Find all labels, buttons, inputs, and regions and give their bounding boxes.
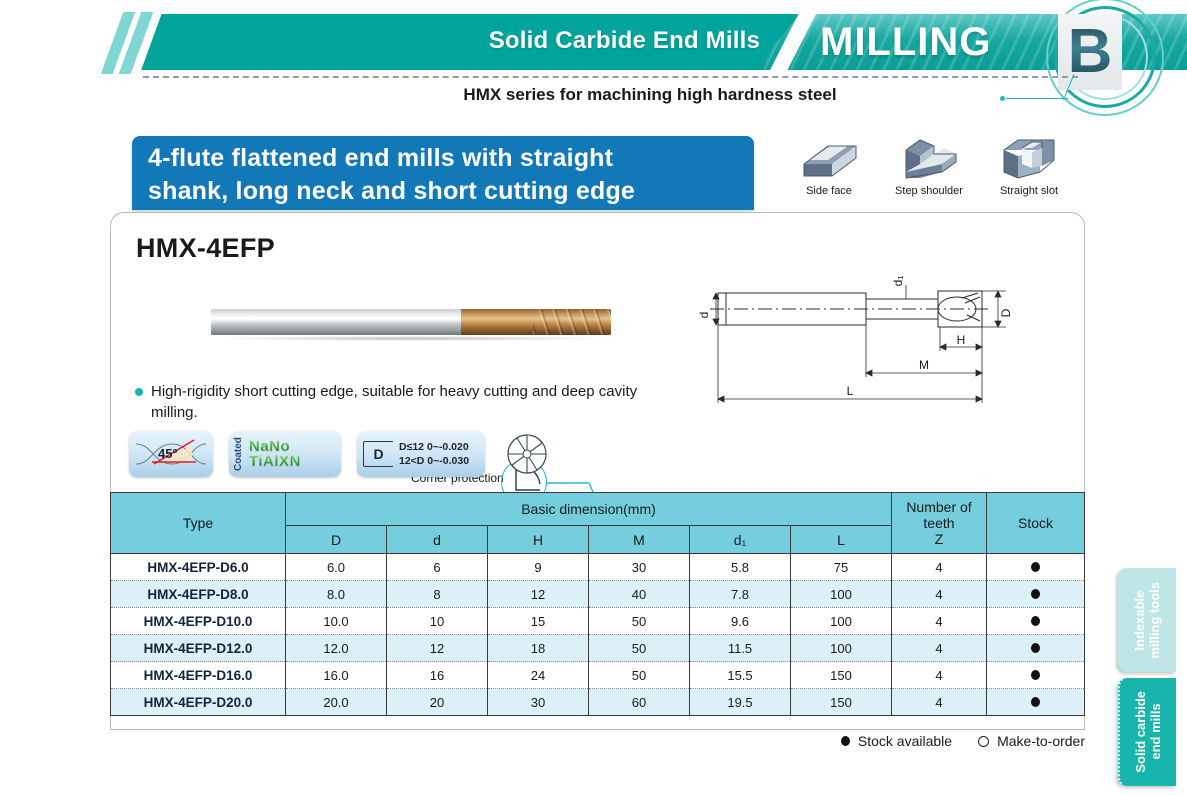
dim-label-M: M bbox=[919, 358, 929, 372]
cell-type: HMX-4EFP-D6.0 bbox=[111, 554, 286, 581]
dimension-drawing: d D d₁ H M L bbox=[666, 259, 1066, 419]
tolerance-symbol: D bbox=[363, 441, 393, 467]
cell-H: 18 bbox=[488, 635, 589, 662]
side-tab-solid-carbide-end-mills[interactable]: Solid carbide end mills bbox=[1118, 678, 1176, 786]
cell-d1: 7.8 bbox=[690, 581, 791, 608]
product-name: HMX-4EFP bbox=[136, 233, 275, 264]
helix-angle-badge: 45° bbox=[129, 431, 213, 477]
table-row: HMX-4EFP-D6.0 6.0 6 9 30 5.8 75 4 bbox=[111, 554, 1085, 581]
table-body: HMX-4EFP-D6.0 6.0 6 9 30 5.8 75 4 HMX-4E… bbox=[111, 554, 1085, 716]
tolerance-badge: D D≤12 0~-0.020 12<D 0~-0.030 bbox=[357, 431, 485, 477]
cell-d1: 11.5 bbox=[690, 635, 791, 662]
cell-H: 24 bbox=[488, 662, 589, 689]
catalog-page: Solid Carbide End Mills MILLING B HMX se… bbox=[0, 0, 1187, 795]
cell-stock bbox=[987, 554, 1085, 581]
col-header-H: H bbox=[488, 526, 589, 554]
header-subtitle: HMX series for machining high hardness s… bbox=[300, 85, 1000, 105]
stock-available-icon bbox=[1031, 562, 1040, 572]
subtitle-leader-dot bbox=[1000, 96, 1005, 101]
stock-available-icon bbox=[1031, 697, 1040, 707]
flute-count-badge bbox=[501, 431, 553, 477]
table-row: HMX-4EFP-D20.0 20.0 20 30 60 19.5 150 4 bbox=[111, 689, 1085, 716]
cell-Z: 4 bbox=[892, 635, 987, 662]
cell-stock bbox=[987, 689, 1085, 716]
cell-type: HMX-4EFP-D16.0 bbox=[111, 662, 286, 689]
stock-legend: Stock available Make-to-order bbox=[720, 733, 1085, 749]
cell-M: 30 bbox=[589, 554, 690, 581]
cell-D: 10.0 bbox=[286, 608, 387, 635]
side-tab-label: Solid carbide end mills bbox=[1133, 691, 1163, 773]
header-category: MILLING bbox=[820, 20, 991, 65]
feature-bullet: High-rigidity short cutting edge, suitab… bbox=[133, 381, 673, 423]
legend-label: Stock available bbox=[858, 733, 952, 749]
stock-available-icon bbox=[1031, 616, 1040, 626]
col-header-L: L bbox=[791, 526, 892, 554]
cell-M: 50 bbox=[589, 662, 690, 689]
cell-d: 20 bbox=[387, 689, 488, 716]
coated-label: Coated bbox=[233, 434, 244, 474]
side-tab-line2: end mills bbox=[1148, 691, 1163, 773]
cell-D: 8.0 bbox=[286, 581, 387, 608]
cell-L: 100 bbox=[791, 608, 892, 635]
cell-d1: 19.5 bbox=[690, 689, 791, 716]
col-header-d1: d₁ bbox=[690, 526, 791, 554]
legend-make-to-order: Make-to-order bbox=[978, 733, 1085, 749]
stock-available-icon bbox=[1031, 643, 1040, 653]
feature-badges: 45° Coated NaNo TiAlXN D D≤12 0~-0.020 1… bbox=[129, 431, 553, 477]
coating-badge: Coated NaNo TiAlXN bbox=[229, 431, 341, 477]
side-tab-label: Indexable milling tools bbox=[1132, 582, 1162, 659]
cell-d1: 9.6 bbox=[690, 608, 791, 635]
cell-d1: 5.8 bbox=[690, 554, 791, 581]
cell-type: HMX-4EFP-D12.0 bbox=[111, 635, 286, 662]
table-row: HMX-4EFP-D12.0 12.0 12 18 50 11.5 100 4 bbox=[111, 635, 1085, 662]
stock-available-icon bbox=[1031, 589, 1040, 599]
side-tab-line1: Indexable bbox=[1132, 582, 1147, 659]
cell-stock bbox=[987, 608, 1085, 635]
table-header: Type Basic dimension(mm) Number of teeth… bbox=[111, 493, 1085, 554]
cell-d: 10 bbox=[387, 608, 488, 635]
page-header: Solid Carbide End Mills MILLING B HMX se… bbox=[0, 0, 1187, 118]
cell-stock bbox=[987, 635, 1085, 662]
straight-slot-icon bbox=[998, 134, 1060, 182]
cell-d: 16 bbox=[387, 662, 488, 689]
feature-bullet-text: High-rigidity short cutting edge, suitab… bbox=[133, 381, 673, 423]
cell-stock bbox=[987, 581, 1085, 608]
cell-H: 9 bbox=[488, 554, 589, 581]
section-letter-badge: B bbox=[1040, 0, 1170, 124]
side-tab-indexable-milling-tools[interactable]: Indexable milling tools bbox=[1118, 568, 1176, 672]
cell-L: 75 bbox=[791, 554, 892, 581]
section-letter: B bbox=[1058, 14, 1122, 90]
cell-Z: 4 bbox=[892, 608, 987, 635]
cell-M: 50 bbox=[589, 635, 690, 662]
cell-L: 150 bbox=[791, 689, 892, 716]
cell-Z: 4 bbox=[892, 581, 987, 608]
cell-stock bbox=[987, 662, 1085, 689]
coating-line2: TiAlXN bbox=[249, 454, 301, 469]
cell-L: 100 bbox=[791, 581, 892, 608]
operation-label: Side face bbox=[790, 185, 868, 197]
side-face-icon bbox=[798, 134, 860, 182]
helix-angle-icon: 45° bbox=[132, 434, 210, 474]
cell-D: 6.0 bbox=[286, 554, 387, 581]
cell-L: 150 bbox=[791, 662, 892, 689]
cell-d: 12 bbox=[387, 635, 488, 662]
four-flute-end-view-icon bbox=[501, 431, 553, 477]
subtitle-leader-line bbox=[1006, 98, 1068, 99]
dim-label-d1: d₁ bbox=[891, 276, 905, 287]
step-shoulder-icon bbox=[898, 134, 960, 182]
cell-type: HMX-4EFP-D10.0 bbox=[111, 608, 286, 635]
coating-name: NaNo TiAlXN bbox=[249, 439, 301, 469]
cell-D: 12.0 bbox=[286, 635, 387, 662]
coating-line1: NaNo bbox=[249, 439, 301, 454]
operation-label: Step shoulder bbox=[890, 185, 968, 197]
col-header-type: Type bbox=[111, 493, 286, 554]
cell-Z: 4 bbox=[892, 689, 987, 716]
dim-label-D: D bbox=[999, 308, 1013, 317]
table-row: HMX-4EFP-D8.0 8.0 8 12 40 7.8 100 4 bbox=[111, 581, 1085, 608]
cell-L: 100 bbox=[791, 635, 892, 662]
cell-D: 20.0 bbox=[286, 689, 387, 716]
dim-label-L: L bbox=[847, 384, 854, 398]
dim-label-H: H bbox=[957, 333, 966, 347]
cell-M: 50 bbox=[589, 608, 690, 635]
operation-icons: Side face Step shoulder bbox=[790, 134, 1070, 212]
cell-M: 60 bbox=[589, 689, 690, 716]
cell-type: HMX-4EFP-D8.0 bbox=[111, 581, 286, 608]
product-title-banner: 4-flute flattened end mills with straigh… bbox=[132, 136, 754, 210]
cell-M: 40 bbox=[589, 581, 690, 608]
tool-photo bbox=[211, 305, 611, 339]
svg-text:45°: 45° bbox=[158, 446, 178, 461]
header-dashed-rule bbox=[143, 76, 1078, 78]
cell-Z: 4 bbox=[892, 554, 987, 581]
operation-step-shoulder: Step shoulder bbox=[890, 134, 968, 212]
stock-available-icon bbox=[841, 736, 850, 746]
col-header-stock: Stock bbox=[987, 493, 1085, 554]
cell-Z: 4 bbox=[892, 662, 987, 689]
cell-d: 6 bbox=[387, 554, 488, 581]
tolerance-line1: D≤12 0~-0.020 bbox=[399, 440, 469, 454]
operation-label: Straight slot bbox=[990, 185, 1068, 197]
product-title-line2: shank, long neck and short cutting edge bbox=[148, 175, 738, 208]
stock-available-icon bbox=[1031, 670, 1040, 680]
table-row: HMX-4EFP-D10.0 10.0 10 15 50 9.6 100 4 bbox=[111, 608, 1085, 635]
operation-straight-slot: Straight slot bbox=[990, 134, 1068, 212]
dimension-drawing-svg: d D d₁ H M L bbox=[666, 259, 1066, 419]
cell-H: 12 bbox=[488, 581, 589, 608]
col-header-M: M bbox=[589, 526, 690, 554]
tool-cutting-edge bbox=[461, 309, 611, 335]
col-header-d: d bbox=[387, 526, 488, 554]
tolerance-line2: 12<D 0~-0.030 bbox=[399, 454, 469, 468]
legend-stock-available: Stock available bbox=[841, 733, 952, 749]
tool-shank bbox=[211, 309, 463, 335]
teeth-line1: Number of bbox=[892, 499, 986, 515]
cell-H: 15 bbox=[488, 608, 589, 635]
tolerance-values: D≤12 0~-0.020 12<D 0~-0.030 bbox=[399, 440, 469, 468]
side-tab-line2: milling tools bbox=[1147, 582, 1162, 659]
cell-type: HMX-4EFP-D20.0 bbox=[111, 689, 286, 716]
dim-label-d: d bbox=[697, 312, 711, 319]
table-header-row-1: Type Basic dimension(mm) Number of teeth… bbox=[111, 493, 1085, 526]
legend-label: Make-to-order bbox=[997, 733, 1085, 749]
product-title-line1: 4-flute flattened end mills with straigh… bbox=[148, 142, 738, 175]
teeth-line2: teeth bbox=[892, 515, 986, 531]
table-row: HMX-4EFP-D16.0 16.0 16 24 50 15.5 150 4 bbox=[111, 662, 1085, 689]
make-to-order-icon bbox=[978, 736, 989, 747]
side-tab-line1: Solid carbide bbox=[1133, 691, 1148, 773]
cell-d: 8 bbox=[387, 581, 488, 608]
cell-D: 16.0 bbox=[286, 662, 387, 689]
col-header-teeth: Number of teeth Z bbox=[892, 493, 987, 554]
tool-shadow bbox=[217, 336, 609, 341]
col-header-D: D bbox=[286, 526, 387, 554]
header-title: Solid Carbide End Mills bbox=[380, 27, 760, 55]
specification-table: Type Basic dimension(mm) Number of teeth… bbox=[110, 492, 1085, 716]
side-tabs: Indexable milling tools Solid carbide en… bbox=[1118, 568, 1178, 786]
operation-side-face: Side face bbox=[790, 134, 868, 212]
bullet-dot-icon bbox=[135, 388, 143, 396]
col-header-group-dimension: Basic dimension(mm) bbox=[286, 493, 892, 526]
cell-H: 30 bbox=[488, 689, 589, 716]
cell-d1: 15.5 bbox=[690, 662, 791, 689]
teeth-line3: Z bbox=[892, 531, 986, 547]
